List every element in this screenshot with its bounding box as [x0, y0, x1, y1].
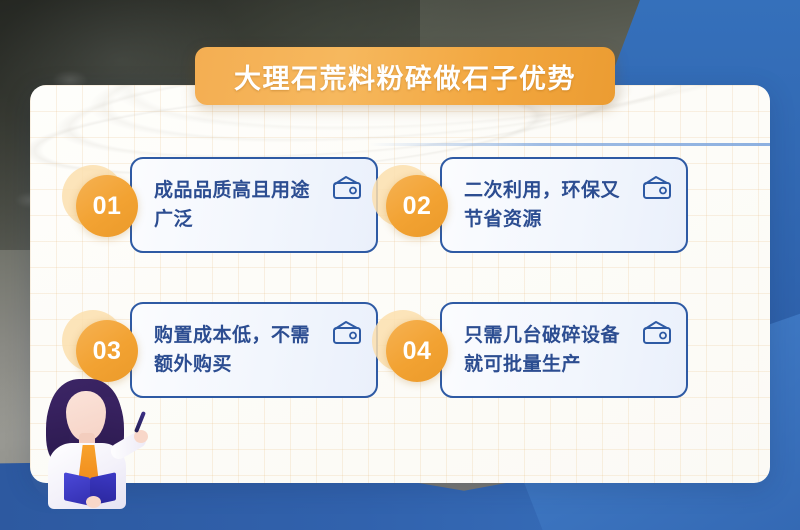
badge-04-circle: 04	[386, 320, 448, 382]
badge-02: 02	[386, 175, 448, 237]
infographic-canvas: 成品品质高且用途广泛 二次利用，环保又节省资源 购置成本低，不需额外购买	[0, 0, 800, 530]
wallet-icon	[332, 320, 364, 346]
title-banner: 大理石荒料粉碎做石子优势	[195, 47, 615, 105]
badge-03-number: 03	[93, 337, 122, 366]
feature-card-02-text: 二次利用，环保又节省资源	[442, 176, 624, 235]
badge-02-number: 02	[403, 192, 432, 221]
badge-02-circle: 02	[386, 175, 448, 237]
presenter-illustration	[30, 375, 155, 510]
badge-04-number: 04	[403, 337, 432, 366]
feature-card-04[interactable]: 只需几台破碎设备就可批量生产	[440, 302, 688, 398]
feature-card-03[interactable]: 购置成本低，不需额外购买	[130, 302, 378, 398]
wallet-icon	[642, 175, 674, 201]
wallet-icon	[332, 175, 364, 201]
badge-01-circle: 01	[76, 175, 138, 237]
badge-04: 04	[386, 320, 448, 382]
feature-card-04-text: 只需几台破碎设备就可批量生产	[442, 321, 624, 380]
page-title: 大理石荒料粉碎做石子优势	[234, 57, 576, 96]
badge-01-number: 01	[93, 192, 122, 221]
character-left-hand	[86, 496, 101, 508]
badge-03: 03	[76, 320, 138, 382]
feature-card-02[interactable]: 二次利用，环保又节省资源	[440, 157, 688, 253]
feature-card-01-text: 成品品质高且用途广泛	[132, 176, 314, 235]
feature-card-01[interactable]: 成品品质高且用途广泛	[130, 157, 378, 253]
feature-card-03-text: 购置成本低，不需额外购买	[132, 321, 314, 380]
wallet-icon	[642, 320, 674, 346]
badge-01: 01	[76, 175, 138, 237]
badge-03-circle: 03	[76, 320, 138, 382]
